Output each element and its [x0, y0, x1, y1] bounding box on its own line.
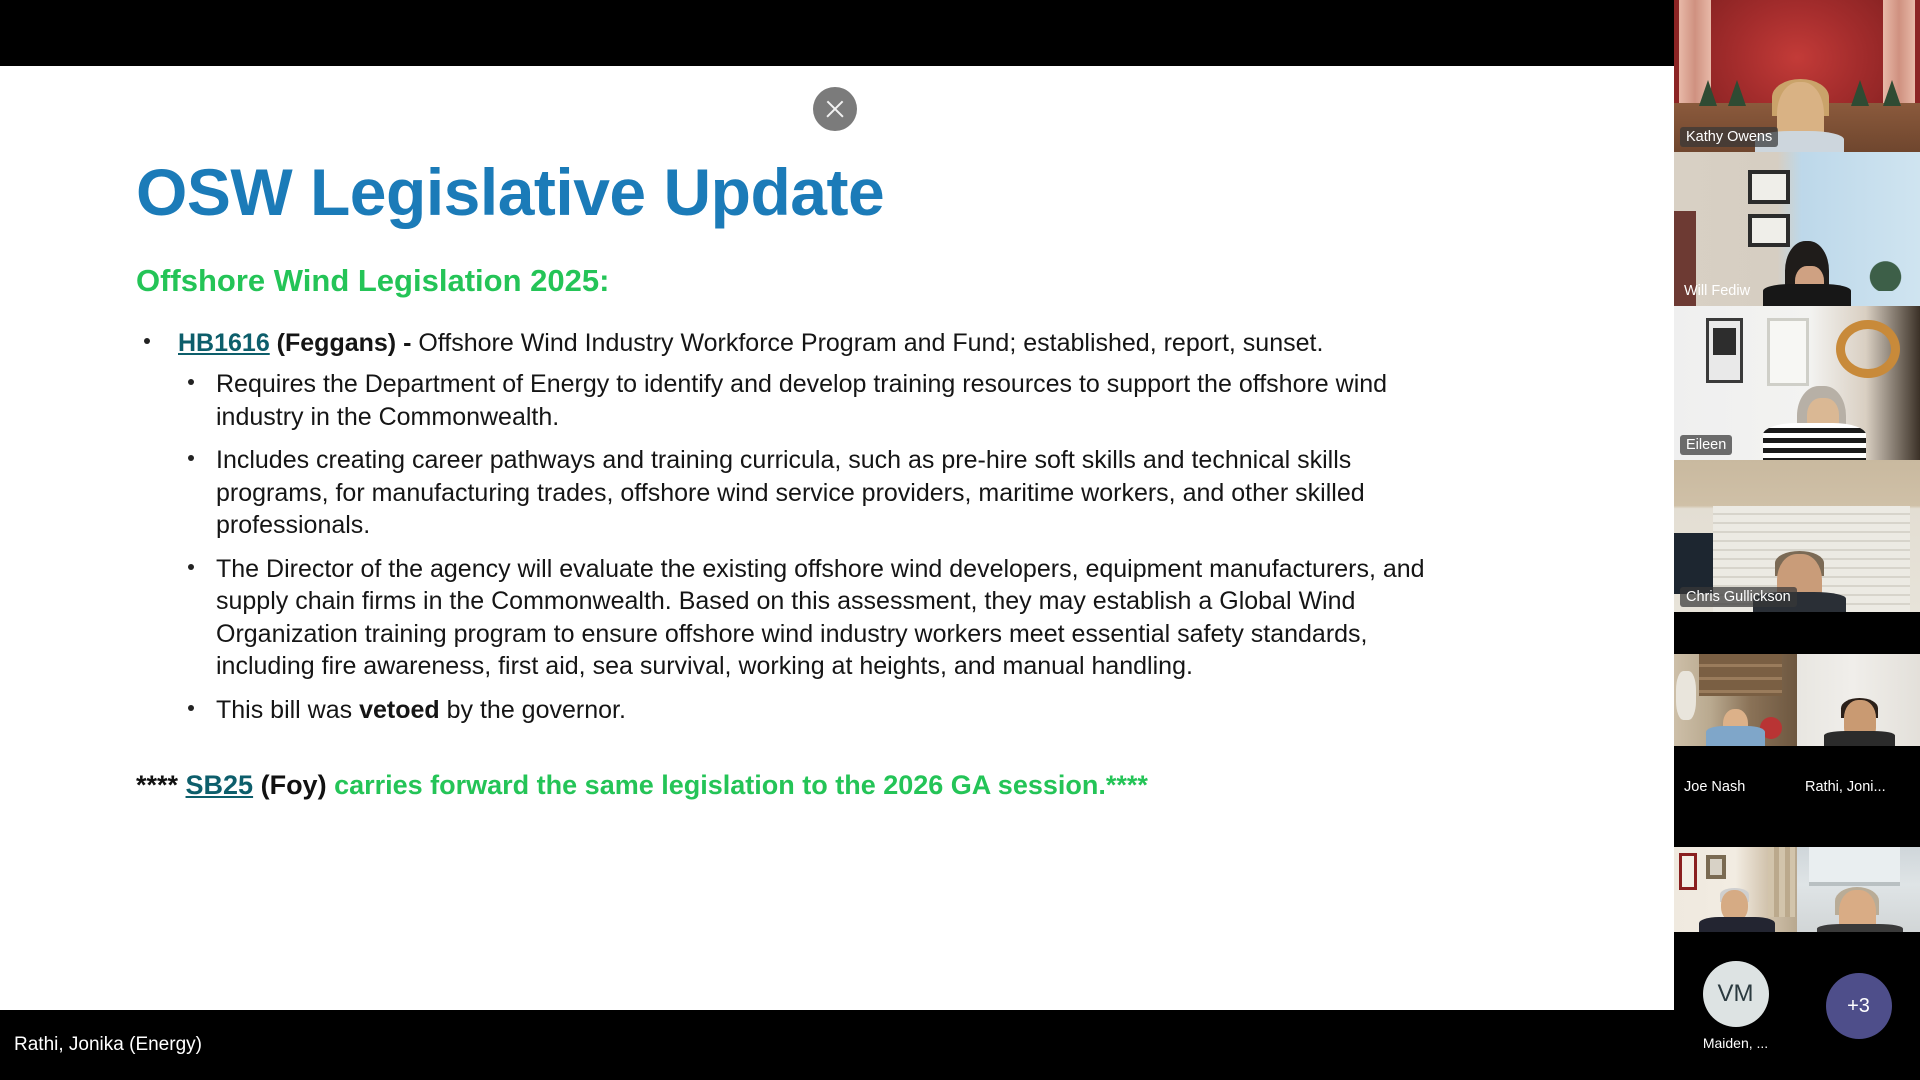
video-tile-rathi-jonika[interactable] [1797, 654, 1920, 746]
list-item: Requires the Department of Energy to ide… [178, 368, 1438, 433]
video-tile-doug-faulkner[interactable] [1674, 847, 1797, 941]
meeting-window: OSW Legislative Update Offshore Wind Leg… [0, 0, 1920, 1080]
sub-bullet-text: Includes creating career pathways and tr… [216, 446, 1365, 539]
video-feed [1797, 654, 1920, 746]
video-feed [1797, 847, 1920, 941]
video-tile-joe-nash[interactable] [1674, 654, 1797, 746]
overflow-count-badge: +3 [1826, 973, 1892, 1039]
active-speaker-name: Rathi, Jonika (Energy) [14, 1034, 202, 1056]
carryover-note: **** SB25 (Foy) carries forward the same… [136, 768, 1554, 803]
list-item: HB1616 (Feggans) - Offshore Wind Industr… [136, 327, 1554, 726]
bullet-list-level1: HB1616 (Feggans) - Offshore Wind Industr… [136, 327, 1554, 726]
participant-name: Joe Nash [1674, 779, 1797, 813]
participant-name: Chris Gullickson [1680, 587, 1797, 607]
video-tile-row-doug-ashley [1674, 847, 1920, 941]
list-item: The Director of the agency will evaluate… [178, 553, 1438, 683]
stars-open: **** [136, 770, 186, 800]
page-title: OSW Legislative Update [136, 158, 1554, 227]
avatar: VM [1703, 961, 1769, 1027]
participant-name: Rathi, Joni... [1797, 779, 1920, 813]
bullet-list-level2: Requires the Department of Energy to ide… [178, 368, 1554, 726]
video-tile-ashley-mc[interactable] [1797, 847, 1920, 941]
video-tile-chris-gullickson[interactable]: Chris Gullickson [1674, 460, 1920, 612]
avatar-tile-maiden[interactable]: VM Maiden, ... [1674, 932, 1797, 1080]
avatar-label: Maiden, ... [1703, 1035, 1768, 1051]
participant-name: Eileen [1680, 435, 1732, 455]
veto-text-prefix: This bill was [216, 696, 359, 724]
avatar-row: VM Maiden, ... +3 [1674, 932, 1920, 1080]
bill-sponsor: (Feggans) - [270, 329, 419, 357]
sub-bullet-text: The Director of the agency will evaluate… [216, 555, 1425, 681]
bullet-dot-icon [188, 564, 194, 570]
video-tile-kathy-owens[interactable]: Kathy Owens [1674, 0, 1920, 152]
carryover-text: carries forward the same legislation to … [327, 770, 1106, 800]
video-tile-eileen[interactable]: Eileen [1674, 306, 1920, 460]
bullet-dot-icon [144, 338, 150, 344]
video-feed [1674, 847, 1797, 941]
bullet-dot-icon [188, 455, 194, 461]
participant-name: Will Fediw [1680, 281, 1756, 301]
participant-rail: Kathy Owens Will Fediw Eileen Chris Gu [1674, 0, 1920, 1080]
video-tile-will-fediw[interactable]: Will Fediw [1674, 152, 1920, 306]
close-icon[interactable] [813, 87, 857, 131]
stars-close: **** [1106, 770, 1148, 800]
bill-summary: Offshore Wind Industry Workforce Program… [418, 329, 1323, 357]
screenshare-stage: OSW Legislative Update Offshore Wind Leg… [0, 0, 1674, 1080]
veto-text-suffix: by the governor. [440, 696, 626, 724]
bullet-dot-icon [188, 705, 194, 711]
video-tile-row-joe-rathi [1674, 654, 1920, 779]
rail-gap [1674, 612, 1920, 654]
bill-link-sb25[interactable]: SB25 [186, 770, 254, 800]
rail-gap [1674, 813, 1920, 847]
active-speaker-bar: Rathi, Jonika (Energy) [0, 1010, 1674, 1080]
avatar-tile-overflow[interactable]: +3 [1797, 932, 1920, 1080]
bill-link-hb1616[interactable]: HB1616 [178, 329, 270, 357]
participant-name: Kathy Owens [1680, 127, 1778, 147]
sub-bullet-text: Requires the Department of Energy to ide… [216, 370, 1387, 431]
bullet-dot-icon [188, 379, 194, 385]
veto-keyword: vetoed [359, 696, 440, 724]
sb25-sponsor: (Foy) [253, 770, 327, 800]
presentation-slide: OSW Legislative Update Offshore Wind Leg… [0, 66, 1674, 1010]
list-item: Includes creating career pathways and tr… [178, 444, 1438, 542]
slide-subtitle: Offshore Wind Legislation 2025: [136, 263, 1554, 299]
list-item-veto: This bill was vetoed by the governor. [178, 694, 1438, 727]
video-feed [1674, 654, 1797, 746]
